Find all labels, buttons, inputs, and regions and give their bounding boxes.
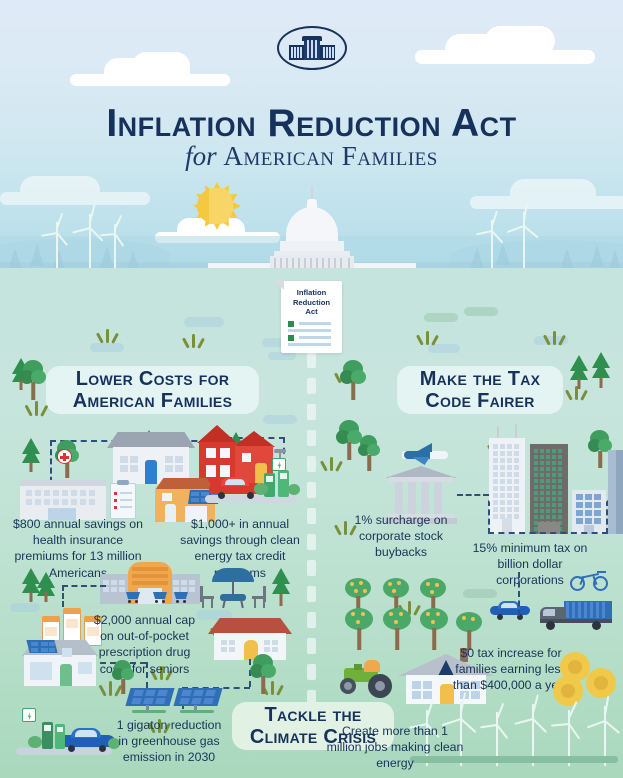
road-dash [307,352,316,368]
shopping-cart [174,592,189,604]
bg-tree [590,245,604,267]
doc-line [288,343,331,346]
ground-puddle [463,589,497,598]
callout-gigaton-reduction: 1 gigaton reduction in greenhouse gas em… [112,717,226,766]
patio-chair [200,586,214,608]
wind-turbine-bg [480,210,504,274]
connector-bracket-corporations [488,500,608,534]
conifer-tree [592,352,610,388]
subtitle-prefix: for [185,141,217,171]
white-house-seal [277,26,347,70]
bush [254,483,268,495]
doc-line [299,322,331,325]
callout-clean-energy-jobs: Create more than 1 million jobs making c… [325,723,465,772]
house-window [220,465,230,477]
street-lamp-head [274,449,286,453]
orchard-tree [345,608,373,650]
ev-charge-sign [22,708,36,722]
heading-line-1: Make the Tax [420,368,541,390]
white-house-icon [289,36,335,60]
round-tree [358,435,380,471]
road-dash [307,456,316,472]
blue-sedan [490,600,530,618]
ground-puddle [464,307,498,316]
green-tractor [338,660,396,694]
page-title: Inflation Reduction Act [0,104,623,143]
bg-tree [30,244,44,266]
section-heading-lower-costs: Lower Costs for American Families [46,366,259,414]
doc-bullet [288,321,294,327]
section-heading-tax-fairness: Make the Tax Code Fairer [397,366,563,414]
wind-turbine-bg [78,204,102,274]
skyscraper-slate [608,450,623,534]
heading-line-1: Lower Costs for [73,368,232,390]
ground-puddle [424,313,458,322]
shopping-cart [153,592,168,604]
road-dash [307,430,316,446]
house-roof [208,618,292,634]
road-dash [307,638,316,654]
doc-bullet [288,335,294,341]
bicycle-icon [570,570,610,592]
callout-stock-buybacks: 1% surcharge on corporate stock buybacks [340,512,462,561]
house-window [221,640,235,652]
hay-bale [586,668,616,698]
medical-cross-badge [57,449,72,464]
ground-puddle [268,352,296,360]
house-window [165,456,183,472]
connector-mall-to-pills [62,585,64,607]
heading-line-2: American Families [73,390,232,412]
hospital-building [20,480,106,520]
infographic-poster: Inflation Reduction Act for American Fam… [0,0,623,778]
house-roof [107,432,195,448]
bg-tree [8,248,22,270]
patio-chair [252,586,266,608]
wind-turbine-bg [104,214,126,274]
gray-house [105,432,197,484]
solar-farm-panel [176,688,220,712]
road-dash [307,612,316,628]
ground-puddle [263,415,297,424]
bush [28,736,42,748]
doc-line [299,336,331,339]
road-dash [307,664,316,680]
doc-line [288,329,331,332]
wind-turbine-bg [512,202,536,274]
shopping-cart [126,592,141,604]
house-window [264,640,278,652]
heading-line-2: Code Fairer [420,390,541,412]
connector-solar-house-v [146,662,148,688]
grass-tuft [184,333,202,348]
callout-prescription-cap: $2,000 annual cap on out-of-pocket presc… [92,612,197,677]
page-subtitle: for American Families [0,143,623,170]
subtitle-main: American Families [223,141,437,171]
house-window [120,456,138,472]
cloud-mid-left [0,172,150,206]
house-window [242,453,251,462]
ground-puddle [184,317,224,327]
airplane-icon [400,443,448,465]
ground-puddle [90,343,124,352]
bg-tree [560,248,574,270]
road-dash [307,404,316,420]
ev-charger [278,470,289,497]
road-dash [307,534,316,550]
road-dash [307,508,316,524]
cloud-mid-right [470,176,623,210]
orchard-tree [420,608,448,650]
house-window [78,662,92,674]
solar-house-white [18,636,102,686]
grass-tuft [545,330,563,345]
house-window [206,465,216,477]
road-dash [307,482,316,498]
bush [288,484,300,495]
grass-tuft [26,400,46,416]
doc-title: Inflation Reduction Act [284,288,339,317]
hospital-windows [26,490,95,505]
house-window [220,448,230,458]
house-roof [197,425,237,443]
connector-bank-to-towers [457,494,489,496]
round-tree [20,360,46,400]
solar-farm-panel [128,688,172,712]
conifer-tree [22,438,40,472]
patio-umbrella [212,568,254,608]
ev-charger [42,722,53,749]
connector-corporations-down [518,572,520,616]
conifer-tree [272,568,290,606]
wind-turbine-bg [45,212,69,274]
medical-clipboard [110,483,136,519]
ground-puddle [10,603,40,612]
house-window [206,448,216,458]
road-dash [307,378,316,394]
grass-tuft [418,330,436,345]
cloud-top-right [415,26,595,66]
ev-charger [55,724,65,749]
cargo-truck [540,601,612,629]
round-tree [250,654,276,694]
cloud-top-left [70,52,230,88]
round-tree [340,360,366,400]
conifer-tree [38,572,54,602]
house-window [30,662,52,680]
road-dash [307,586,316,602]
conifer-tree [570,355,588,389]
house-door [60,664,72,686]
house-window [62,648,72,657]
inflation-reduction-act-document: Inflation Reduction Act [281,281,342,353]
connector-mall-horizontal [62,585,106,587]
house-roof [233,431,275,447]
house-window [412,681,432,699]
road-dash [307,560,316,576]
ev-charge-sign [272,458,286,471]
round-tree [112,660,134,694]
house-window [162,493,172,501]
blue-car [58,728,116,750]
orchard-tree [383,608,411,650]
grass-tuft [98,328,116,343]
